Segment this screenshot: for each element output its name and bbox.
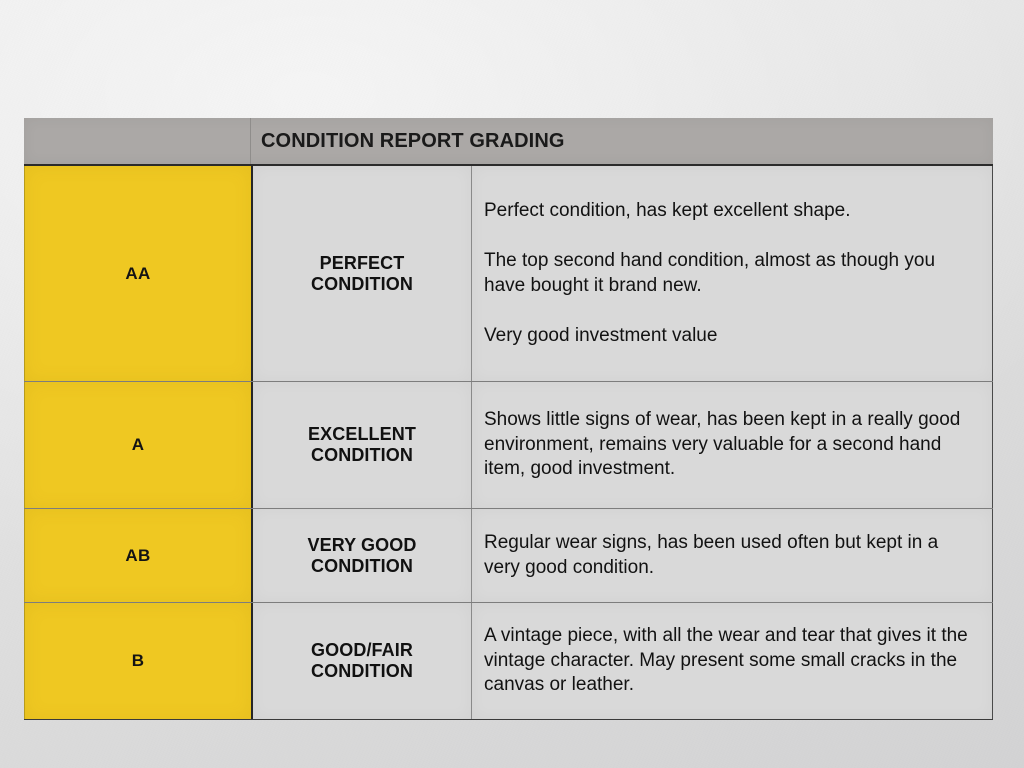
grade-cell: B xyxy=(24,603,253,719)
table-header-spacer xyxy=(24,118,251,164)
condition-name-label: GOOD/FAIR CONDITION xyxy=(311,640,413,682)
grade-cell: AA xyxy=(24,166,253,381)
grade-cell: A xyxy=(24,382,253,508)
table-header-row: CONDITION REPORT GRADING xyxy=(24,118,993,166)
description-paragraph: The top second hand condition, almost as… xyxy=(484,249,978,297)
condition-name-label: VERY GOOD CONDITION xyxy=(308,535,417,577)
description-paragraph: Very good investment value xyxy=(484,324,978,348)
grade-label: B xyxy=(132,651,145,671)
table-row: A EXCELLENT CONDITION Shows little signs… xyxy=(24,382,993,509)
table-row: B GOOD/FAIR CONDITION A vintage piece, w… xyxy=(24,603,993,720)
condition-description-cell: Shows little signs of wear, has been kep… xyxy=(472,382,993,508)
condition-name-label: EXCELLENT CONDITION xyxy=(308,424,416,466)
grade-label: AB xyxy=(125,546,150,566)
description-paragraph: A vintage piece, with all the wear and t… xyxy=(484,624,978,698)
table-title: CONDITION REPORT GRADING xyxy=(251,130,565,153)
condition-name-cell: PERFECT CONDITION xyxy=(253,166,472,381)
condition-description-cell: Regular wear signs, has been used often … xyxy=(472,509,993,602)
description-paragraph: Shows little signs of wear, has been kep… xyxy=(484,408,978,482)
condition-description-cell: Perfect condition, has kept excellent sh… xyxy=(472,166,993,381)
condition-name-label: PERFECT CONDITION xyxy=(311,253,413,295)
grade-cell: AB xyxy=(24,509,253,602)
table-row: AB VERY GOOD CONDITION Regular wear sign… xyxy=(24,509,993,603)
grade-label: A xyxy=(132,435,145,455)
condition-description-cell: A vintage piece, with all the wear and t… xyxy=(472,603,993,719)
condition-name-cell: VERY GOOD CONDITION xyxy=(253,509,472,602)
description-paragraph: Perfect condition, has kept excellent sh… xyxy=(484,199,978,223)
condition-grading-table: CONDITION REPORT GRADING AA PERFECT COND… xyxy=(24,118,993,720)
condition-name-cell: GOOD/FAIR CONDITION xyxy=(253,603,472,719)
grade-label: AA xyxy=(125,264,150,284)
description-paragraph: Regular wear signs, has been used often … xyxy=(484,531,978,580)
condition-name-cell: EXCELLENT CONDITION xyxy=(253,382,472,508)
table-row: AA PERFECT CONDITION Perfect condition, … xyxy=(24,166,993,382)
